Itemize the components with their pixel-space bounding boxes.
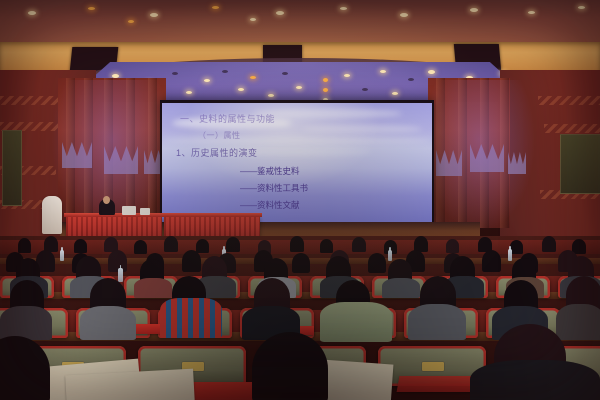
wall-slat [436,78,445,228]
slide-bullet-2: ——资料性工具书 [240,182,308,194]
recessed-downlight [578,6,585,9]
ceiling-spot [172,72,178,75]
attendee [196,239,209,253]
recessed-downlight [470,8,478,12]
attendee [164,236,178,252]
attendee-body [0,306,52,340]
attendee-body [80,306,136,340]
projection-screen[interactable]: 一、史料的属性与功能 （一）属性 1、历史属性的演变 ——鉴戒性史料 ——资料性… [162,103,432,222]
attendee [74,239,87,253]
laptop-on-table [122,206,136,215]
attendee [446,239,459,253]
seat-number-plate [422,362,444,371]
recessed-downlight [250,18,256,21]
attendee-body [470,360,600,400]
attendee-foreground [252,332,328,400]
recessed-downlight [528,11,535,14]
attendee [182,250,201,272]
attendee [18,238,31,253]
recessed-downlight [88,7,95,10]
ceiling-spot [204,79,210,82]
attendee-body [382,278,420,298]
laptop-on-table [140,208,150,215]
attendee [352,237,366,252]
recessed-downlight [212,6,219,9]
attendee-body [408,304,466,340]
recessed-downlight [340,7,347,10]
attendee-body [556,304,600,340]
ceiling-spot [408,78,414,81]
attendee-body [134,278,172,298]
audience-area [0,236,600,400]
slide-line-2: （一）属性 [198,130,241,141]
ceiling-spot [380,70,386,73]
attendee [368,253,386,273]
ceiling-spot [344,74,350,77]
attendee [542,236,556,252]
water-bottle [388,250,392,261]
attendee [320,239,333,253]
wall-slat [148,78,157,228]
wall-pattern-border [544,124,600,133]
recessed-downlight [28,11,36,15]
recessed-downlight [400,13,408,17]
wall-pattern-border [0,96,62,105]
recessed-downlight [128,20,134,23]
head-table-top [162,213,262,217]
water-bottle [508,249,512,261]
side-exit-door[interactable] [2,130,22,206]
auditorium-scene: 一、史料的属性与功能 （一）属性 1、历史属性的演变 ——鉴戒性史料 ——资料性… [0,0,600,400]
slide-line-1: 一、史料的属性与功能 [180,112,275,125]
ceiling-spot [392,92,398,95]
printed-handout[interactable] [319,360,394,400]
printed-handout[interactable] [65,369,195,400]
wall-pattern-border [538,96,600,105]
recessed-downlight [276,11,284,15]
ceiling-spot [323,78,328,82]
attendee [290,236,304,252]
attendee [482,250,501,272]
ceiling-spot [186,91,192,94]
water-bottle [118,268,123,282]
wall-slat [458,78,467,228]
slide-bullet-1: ——鉴戒性史料 [240,165,300,177]
ceiling-spot [250,76,256,79]
slide-text-block: 一、史料的属性与功能 （一）属性 1、历史属性的演变 ——鉴戒性史料 ——资料性… [162,103,432,222]
ceiling-spot [323,88,328,92]
slide-line-3: 1、历史属性的演变 [176,146,258,159]
white-side-chair[interactable] [42,196,62,234]
attendee [134,240,147,254]
recessed-downlight [150,13,158,17]
ceiling-spot [222,70,228,73]
side-exit-door[interactable] [560,134,600,194]
ceiling-spot [428,70,435,74]
ceiling-spot [268,94,274,97]
water-bottle [60,250,64,261]
ceiling-spot [282,72,288,75]
attendee [226,237,240,252]
ceiling-spot [362,88,368,91]
ceiling-spot [296,86,302,89]
attendee-body-puffer [320,302,392,342]
slide-bullet-3: ——资料性文献 [240,199,300,211]
attendee [292,253,310,273]
speaker-head [103,196,110,204]
attendee-body-plaid [160,298,222,338]
ceiling-spot [238,88,244,91]
